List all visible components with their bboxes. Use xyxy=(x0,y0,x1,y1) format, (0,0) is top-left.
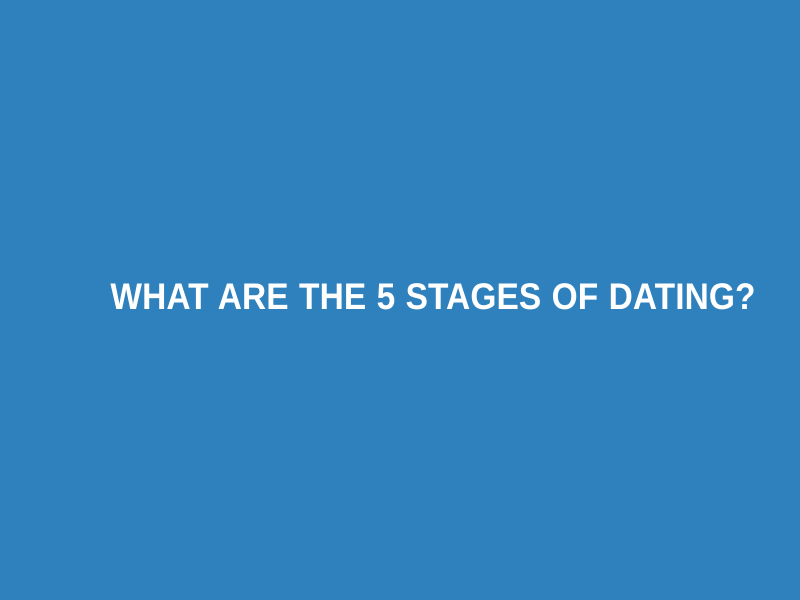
page-title: WHAT ARE THE 5 STAGES OF DATING? xyxy=(110,278,689,315)
article-header-banner: WHAT ARE THE 5 STAGES OF DATING? xyxy=(0,0,800,600)
headline-container: WHAT ARE THE 5 STAGES OF DATING? xyxy=(0,0,800,600)
